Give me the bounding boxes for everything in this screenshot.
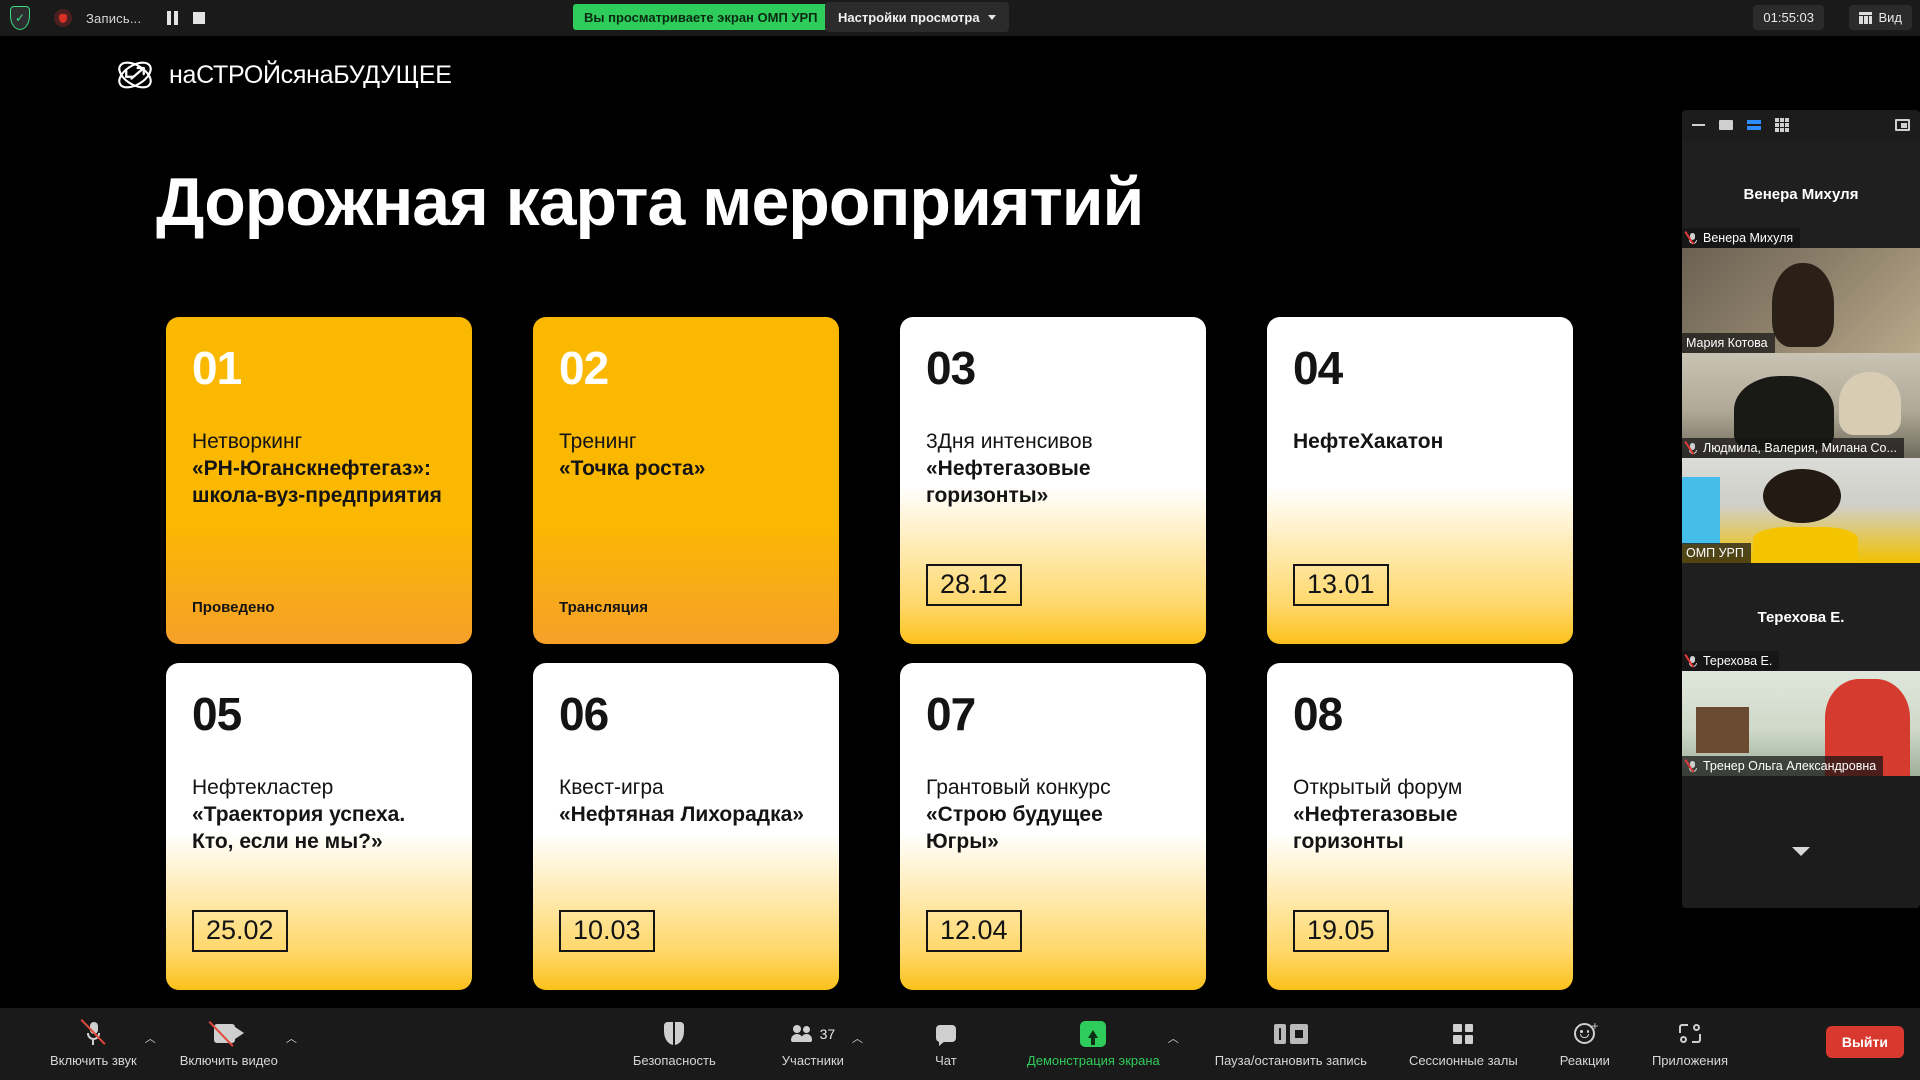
roadmap-card-number: 06 (559, 691, 813, 737)
camera-muted-icon (214, 1021, 244, 1047)
video-tile-list: Венера МихуляВенера МихуляМария КотоваЛю… (1682, 140, 1920, 776)
participant-name: Венера Михуля (1703, 231, 1793, 245)
date-badge: 19.05 (1293, 910, 1389, 952)
roadmap-card-body: НефтеХакатон (1293, 429, 1547, 456)
roadmap-card: 03 3Дня интенсивов«Нефтегазовыегоризонты… (900, 317, 1206, 644)
chevron-up-icon[interactable]: ︿ (852, 1030, 863, 1046)
chevron-up-icon[interactable]: ︿ (286, 1030, 297, 1046)
toolbar-chat-label: Чат (935, 1053, 957, 1068)
atom-arrows-logo-icon (114, 54, 156, 96)
date-badge: 13.01 (1293, 564, 1389, 606)
toolbar-chat-button[interactable]: Чат (915, 1021, 977, 1068)
participant-display-name: Терехова Е. (1758, 609, 1845, 626)
roadmap-card-number: 05 (192, 691, 446, 737)
view-settings-button[interactable]: Настройки просмотра (825, 2, 1009, 32)
brand-logo: наСТРОЙсянаБУДУЩЕЕ (114, 54, 452, 96)
participant-name: ОМП УРП (1686, 546, 1744, 560)
roadmap-card-body: Нефтекластер«Траектория успеха.Кто, если… (192, 775, 446, 856)
roadmap-card-title: «Точка роста» (559, 456, 813, 483)
roadmap-card-body: 3Дня интенсивов«Нефтегазовыегоризонты» (926, 429, 1180, 510)
participants-icon: 37 (791, 1021, 836, 1047)
minimize-icon[interactable] (1692, 124, 1705, 126)
date-badge: 28.12 (926, 564, 1022, 606)
date-badge: 25.02 (192, 910, 288, 952)
speaker-view-icon[interactable] (1747, 120, 1761, 131)
roadmap-card-grid: 01 Нетворкинг«РН-Юганскнефтегаз»:школа-в… (166, 317, 1506, 990)
roadmap-card-body: Открытый форум«Нефтегазовыегоризонты (1293, 775, 1547, 856)
date-badge: 10.03 (559, 910, 655, 952)
participant-name: Людмила, Валерия, Милана Со... (1703, 441, 1897, 455)
roadmap-card-number: 07 (926, 691, 1180, 737)
roadmap-card-title: «Нефтегазовые (1293, 802, 1547, 829)
participant-name: Мария Котова (1686, 336, 1768, 350)
shield-check-icon[interactable]: ✓ (8, 4, 32, 32)
roadmap-card-title: «РН-Юганскнефтегаз»: (192, 456, 446, 483)
toolbar-apps-button[interactable]: Приложения (1646, 1021, 1734, 1068)
roadmap-card-subtitle: Квест-игра (559, 775, 813, 802)
roadmap-card: 01 Нетворкинг«РН-Юганскнефтегаз»:школа-в… (166, 317, 472, 644)
roadmap-card-subtitle: Открытый форум (1293, 775, 1547, 802)
toolbar-record-label: Пауза/остановить запись (1215, 1053, 1367, 1068)
roadmap-card-number: 08 (1293, 691, 1547, 737)
roadmap-card-number: 03 (926, 345, 1180, 391)
microphone-muted-icon (86, 1021, 101, 1047)
meeting-timer: 01:55:03 (1753, 5, 1824, 30)
roadmap-card-subtitle: 3Дня интенсивов (926, 429, 1180, 456)
reactions-icon: + (1574, 1021, 1595, 1047)
zoom-meeting-window: ✓ Запись... Вы просматриваете экран ОМП … (0, 0, 1920, 1080)
roadmap-card-subtitle: Грантовый конкурс (926, 775, 1180, 802)
toolbar-share-label: Демонстрация экрана (1027, 1053, 1160, 1068)
stop-icon[interactable] (193, 12, 205, 24)
roadmap-card-subtitle: Нефтекластер (192, 775, 446, 802)
view-button-label: Вид (1878, 10, 1902, 25)
roadmap-card-subtitle: Тренинг (559, 429, 813, 456)
toolbar-audio-button[interactable]: Включить звук (44, 1021, 143, 1068)
video-panel-controls (1682, 110, 1920, 140)
video-tile[interactable]: Мария Котова (1682, 248, 1920, 353)
participant-name-badge: Мария Котова (1682, 333, 1775, 353)
roadmap-card-title: «Траектория успеха. (192, 802, 446, 829)
roadmap-card: 04 НефтеХакатон 13.01 (1267, 317, 1573, 644)
mic-muted-icon (1687, 232, 1698, 245)
video-tile[interactable]: Людмила, Валерия, Милана Со... (1682, 353, 1920, 458)
toolbar-record-button[interactable]: Пауза/остановить запись (1209, 1021, 1373, 1068)
participant-name: Терехова Е. (1703, 654, 1772, 668)
roadmap-card-number: 04 (1293, 345, 1547, 391)
mic-muted-icon (1687, 655, 1698, 668)
toolbar-share-button[interactable]: Демонстрация экрана (1021, 1021, 1166, 1068)
share-screen-icon (1080, 1021, 1106, 1047)
participant-name-badge: Людмила, Валерия, Милана Со... (1682, 438, 1904, 458)
record-dot-icon (54, 9, 72, 27)
mic-muted-icon (1687, 760, 1698, 773)
roadmap-card: 07 Грантовый конкурс«Строю будущее Югры»… (900, 663, 1206, 990)
recording-label: Запись... (86, 11, 141, 26)
roadmap-card-body: Квест-игра«Нефтяная Лихорадка» (559, 775, 813, 829)
view-button[interactable]: Вид (1849, 5, 1912, 30)
toolbar-rooms-label: Сессионные залы (1409, 1053, 1518, 1068)
roadmap-card-title: Кто, если не мы?» (192, 829, 446, 856)
toolbar-reactions-button[interactable]: + Реакции (1554, 1021, 1616, 1068)
status-badge: Проведено (192, 599, 275, 616)
roadmap-card: 05 Нефтекластер«Траектория успеха.Кто, е… (166, 663, 472, 990)
pause-icon[interactable] (167, 11, 179, 25)
roadmap-card-number: 02 (559, 345, 813, 391)
participant-name: Тренер Ольга Александровна (1703, 759, 1876, 773)
roadmap-card: 06 Квест-игра«Нефтяная Лихорадка» 10.03 (533, 663, 839, 990)
meeting-toolbar: Включить звук ︿ Включить видео ︿ Безопас… (0, 1008, 1920, 1080)
toolbar-participants-label: Участники (782, 1053, 844, 1068)
roadmap-card-subtitle: Нетворкинг (192, 429, 446, 456)
roadmap-card-number: 01 (192, 345, 446, 391)
toolbar-apps-label: Приложения (1652, 1053, 1728, 1068)
roadmap-card-title: горизонты (1293, 829, 1547, 856)
layout-grid-icon (1859, 12, 1872, 24)
toolbar-audio-label: Включить звук (50, 1053, 137, 1068)
leave-button[interactable]: Выйти (1826, 1026, 1904, 1058)
shield-icon (664, 1021, 684, 1047)
roadmap-card: 02 Тренинг«Точка роста» Трансляция (533, 317, 839, 644)
participant-name-badge: Терехова Е. (1682, 651, 1779, 671)
roadmap-card-title: школа-вуз-предприятия (192, 483, 446, 510)
chat-bubble-icon (936, 1021, 956, 1047)
participant-count: 37 (820, 1026, 836, 1042)
gallery-view-icon[interactable] (1775, 118, 1789, 132)
scroll-down-button[interactable] (1682, 847, 1920, 856)
date-badge: 12.04 (926, 910, 1022, 952)
roadmap-card-title: НефтеХакатон (1293, 429, 1547, 456)
toolbar-security-button[interactable]: Безопасность (627, 1021, 722, 1068)
roadmap-card-title: «Строю будущее Югры» (926, 802, 1180, 856)
participant-display-name: Венера Михуля (1744, 186, 1859, 203)
toolbar-video-button[interactable]: Включить видео (174, 1021, 284, 1068)
mic-muted-icon (1687, 442, 1698, 455)
toolbar-video-label: Включить видео (180, 1053, 278, 1068)
roadmap-card: 08 Открытый форум«Нефтегазовыегоризонты … (1267, 663, 1573, 990)
video-tile[interactable]: Тренер Ольга Александровна (1682, 671, 1920, 776)
toolbar-security-label: Безопасность (633, 1053, 716, 1068)
roadmap-card-title: «Нефтегазовые (926, 456, 1180, 483)
roadmap-card-body: Нетворкинг«РН-Юганскнефтегаз»:школа-вуз-… (192, 429, 446, 510)
chevron-down-icon (1792, 847, 1810, 856)
roadmap-card-body: Тренинг«Точка роста» (559, 429, 813, 483)
toolbar-reactions-label: Реакции (1560, 1053, 1610, 1068)
breakout-rooms-icon (1453, 1021, 1473, 1047)
window-icon[interactable] (1719, 120, 1733, 130)
roadmap-card-title: «Нефтяная Лихорадка» (559, 802, 813, 829)
toolbar-participants-button[interactable]: 37 Участники (776, 1021, 850, 1068)
video-tile[interactable]: ОМП УРП (1682, 458, 1920, 563)
participant-name-badge: ОМП УРП (1682, 543, 1751, 563)
roadmap-card-body: Грантовый конкурс«Строю будущее Югры» (926, 775, 1180, 856)
shared-screen-slide: наСТРОЙсянаБУДУЩЕЕ Дорожная карта меропр… (46, 36, 1920, 1043)
chevron-up-icon[interactable]: ︿ (1168, 1030, 1179, 1046)
roadmap-card-title: горизонты» (926, 483, 1180, 510)
page-title: Дорожная карта мероприятий (156, 163, 1143, 241)
view-settings-label: Настройки просмотра (838, 10, 980, 25)
toolbar-rooms-button[interactable]: Сессионные залы (1403, 1021, 1524, 1068)
chevron-down-icon (988, 15, 996, 20)
participant-name-badge: Венера Михуля (1682, 228, 1800, 248)
participant-name-badge: Тренер Ольга Александровна (1682, 756, 1883, 776)
apps-icon (1679, 1021, 1701, 1047)
pause-stop-record-icon (1274, 1021, 1308, 1047)
chevron-up-icon[interactable]: ︿ (145, 1030, 156, 1046)
video-tile-no-video[interactable]: Терехова Е.Терехова Е. (1682, 563, 1920, 671)
status-badge: Трансляция (559, 599, 648, 616)
video-thumbnail-panel: Венера МихуляВенера МихуляМария КотоваЛю… (1682, 110, 1920, 908)
screen-share-banner: Вы просматриваете экран ОМП УРП (573, 4, 829, 30)
top-bar: ✓ Запись... Вы просматриваете экран ОМП … (0, 0, 1920, 36)
brand-logo-text: наСТРОЙсянаБУДУЩЕЕ (169, 61, 452, 90)
picture-in-picture-icon[interactable] (1895, 119, 1910, 131)
video-tile-no-video[interactable]: Венера МихуляВенера Михуля (1682, 140, 1920, 248)
